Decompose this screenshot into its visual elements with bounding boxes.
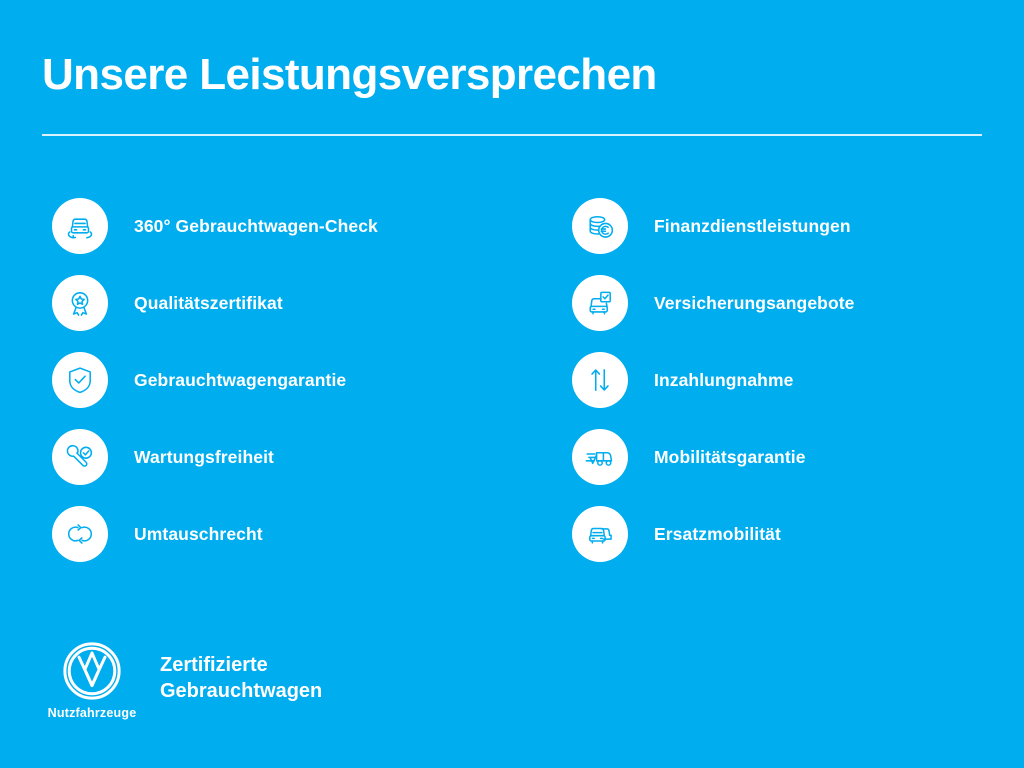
feature-item-exchange-right[interactable]: Umtauschrecht	[52, 504, 522, 564]
car-360-check-icon	[52, 198, 108, 254]
award-rosette-icon	[52, 275, 108, 331]
feature-label: Gebrauchtwagengarantie	[134, 370, 346, 391]
volkswagen-logo-icon	[61, 640, 123, 702]
feature-item-maintenance-free[interactable]: Wartungsfreiheit	[52, 427, 522, 487]
feature-label: Versicherungsangebote	[654, 293, 855, 314]
van-speed-icon	[572, 429, 628, 485]
feature-label: Mobilitätsgarantie	[654, 447, 806, 468]
feature-label: Ersatzmobilität	[654, 524, 781, 545]
slide-canvas: Unsere Leistungsversprechen	[0, 0, 1024, 768]
coins-euro-icon	[572, 198, 628, 254]
brand-tagline-line2: Gebrauchtwagen	[160, 678, 322, 704]
feature-item-insurance-offers[interactable]: Versicherungsangebote	[572, 273, 1012, 333]
brand-tagline: Zertifizierte Gebrauchtwagen	[160, 652, 322, 704]
up-down-arrows-icon	[572, 352, 628, 408]
features-right-column: Finanzdienstleistungen	[572, 196, 1012, 581]
brand-subtitle: Nutzfahrzeuge	[48, 706, 137, 720]
brand-footer: Nutzfahrzeuge Zertifizierte Gebrauchtwag…	[42, 640, 322, 720]
feature-label: Inzahlungnahme	[654, 370, 793, 391]
brand-mark: Nutzfahrzeuge	[42, 640, 142, 720]
two-cars-icon	[572, 506, 628, 562]
feature-label: Umtauschrecht	[134, 524, 263, 545]
wrench-check-icon	[52, 429, 108, 485]
shield-check-icon	[52, 352, 108, 408]
brand-tagline-line1: Zertifizierte	[160, 652, 322, 678]
feature-label: Finanzdienstleistungen	[654, 216, 851, 237]
feature-item-trade-in[interactable]: Inzahlungnahme	[572, 350, 1012, 410]
features-left-column: 360° Gebrauchtwagen-Check Qualitätszerti…	[52, 196, 522, 581]
feature-item-replacement-mobility[interactable]: Ersatzmobilität	[572, 504, 1012, 564]
feature-label: Wartungsfreiheit	[134, 447, 274, 468]
feature-item-360-check[interactable]: 360° Gebrauchtwagen-Check	[52, 196, 522, 256]
car-document-check-icon	[572, 275, 628, 331]
feature-item-financial-services[interactable]: Finanzdienstleistungen	[572, 196, 1012, 256]
feature-item-warranty[interactable]: Gebrauchtwagengarantie	[52, 350, 522, 410]
title-divider	[42, 134, 982, 136]
feature-item-quality-certificate[interactable]: Qualitätszertifikat	[52, 273, 522, 333]
feature-label: Qualitätszertifikat	[134, 293, 283, 314]
feature-label: 360° Gebrauchtwagen-Check	[134, 216, 378, 237]
feature-item-mobility-guarantee[interactable]: Mobilitätsgarantie	[572, 427, 1012, 487]
page-title: Unsere Leistungsversprechen	[42, 52, 657, 98]
exchange-arrows-icon	[52, 506, 108, 562]
